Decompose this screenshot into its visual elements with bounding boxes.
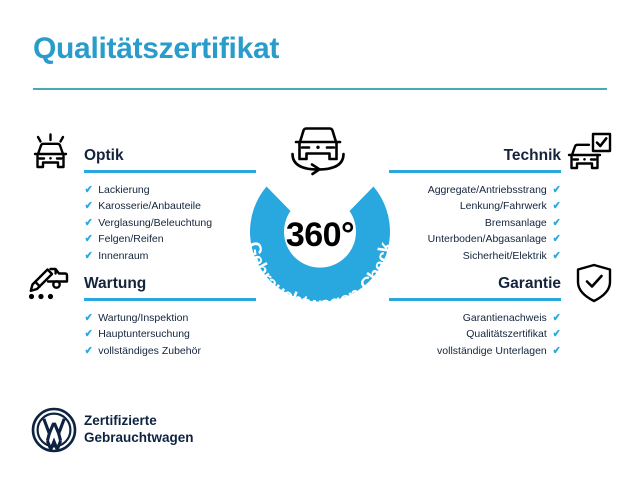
list-item: Aggregate/Antriebsstrang✔ <box>389 182 561 199</box>
section-wartung-title: Wartung <box>84 275 146 293</box>
list-item-label: Qualitätszertifikat <box>466 326 547 343</box>
check-icon: ✔ <box>85 326 93 343</box>
list-item: Sicherheit/Elektrik✔ <box>389 248 561 265</box>
list-item: Qualitätszertifikat✔ <box>389 326 561 343</box>
list-item: ✔vollständiges Zubehör <box>84 343 256 360</box>
page-title: Qualitätszertifikat <box>33 32 279 66</box>
list-item-label: vollständiges Zubehör <box>98 343 201 360</box>
section-garantie: Garantie Garantienachweis✔ Qualitätszert… <box>389 269 561 359</box>
footer-line-2: Gebrauchtwagen <box>84 429 194 446</box>
check-icon: ✔ <box>552 231 560 248</box>
check-icon: ✔ <box>85 248 93 265</box>
certificate-page: Qualitätszertifikat Optik ✔Lackierung ✔K… <box>0 0 640 480</box>
footer-line-1: Zertifizierte <box>84 412 194 429</box>
section-garantie-list: Garantienachweis✔ Qualitätszertifikat✔ v… <box>389 310 561 360</box>
check-icon: ✔ <box>85 310 93 327</box>
list-item-label: Wartung/Inspektion <box>98 310 188 327</box>
list-item: Bremsanlage✔ <box>389 215 561 232</box>
check-icon: ✔ <box>552 326 560 343</box>
section-garantie-divider <box>389 298 561 301</box>
check-icon: ✔ <box>85 182 93 199</box>
check-icon: ✔ <box>552 198 560 215</box>
list-item-label: Garantienachweis <box>463 310 547 327</box>
check-icon: ✔ <box>85 198 93 215</box>
shield-check-icon <box>571 261 617 305</box>
pencil-car-service-icon <box>26 260 72 304</box>
section-optik-title: Optik <box>84 147 124 165</box>
list-item-label: Lenkung/Fahrwerk <box>460 198 547 215</box>
vw-logo-icon <box>31 407 77 453</box>
list-item-label: Felgen/Reifen <box>98 231 163 248</box>
car-front-checkbox-icon <box>566 131 612 175</box>
section-garantie-header: Garantie <box>389 269 561 295</box>
check-icon: ✔ <box>85 215 93 232</box>
check-icon: ✔ <box>552 310 560 327</box>
list-item: Unterboden/Abgasanlage✔ <box>389 231 561 248</box>
check-icon: ✔ <box>552 248 560 265</box>
list-item-label: vollständige Unterlagen <box>437 343 547 360</box>
check-icon: ✔ <box>552 343 560 360</box>
car-rotate-360-icon <box>276 118 360 178</box>
check-icon: ✔ <box>85 231 93 248</box>
list-item-label: Innenraum <box>98 248 148 265</box>
list-item: Garantienachweis✔ <box>389 310 561 327</box>
list-item-label: Hauptuntersuchung <box>98 326 190 343</box>
section-garantie-title: Garantie <box>498 275 561 293</box>
list-item: vollständige Unterlagen✔ <box>389 343 561 360</box>
section-technik-header: Technik <box>389 141 561 167</box>
title-divider <box>33 88 607 90</box>
section-technik-title: Technik <box>504 147 561 165</box>
section-technik: Technik Aggregate/Antriebsstrang✔ Lenkun… <box>389 141 561 264</box>
check-icon: ✔ <box>85 343 93 360</box>
list-item-label: Lackierung <box>98 182 149 199</box>
car-front-shine-icon <box>28 131 74 175</box>
footer-brand-text: Zertifizierte Gebrauchtwagen <box>84 412 194 446</box>
check-icon: ✔ <box>552 182 560 199</box>
list-item-label: Bremsanlage <box>485 215 547 232</box>
list-item-label: Unterboden/Abgasanlage <box>428 231 547 248</box>
list-item-label: Sicherheit/Elektrik <box>463 248 547 265</box>
list-item-label: Aggregate/Antriebsstrang <box>428 182 547 199</box>
list-item: Lenkung/Fahrwerk✔ <box>389 198 561 215</box>
check-icon: ✔ <box>552 215 560 232</box>
list-item-label: Karosserie/Anbauteile <box>98 198 201 215</box>
section-technik-list: Aggregate/Antriebsstrang✔ Lenkung/Fahrwe… <box>389 182 561 265</box>
list-item-label: Verglasung/Beleuchtung <box>98 215 212 232</box>
section-technik-divider <box>389 170 561 173</box>
